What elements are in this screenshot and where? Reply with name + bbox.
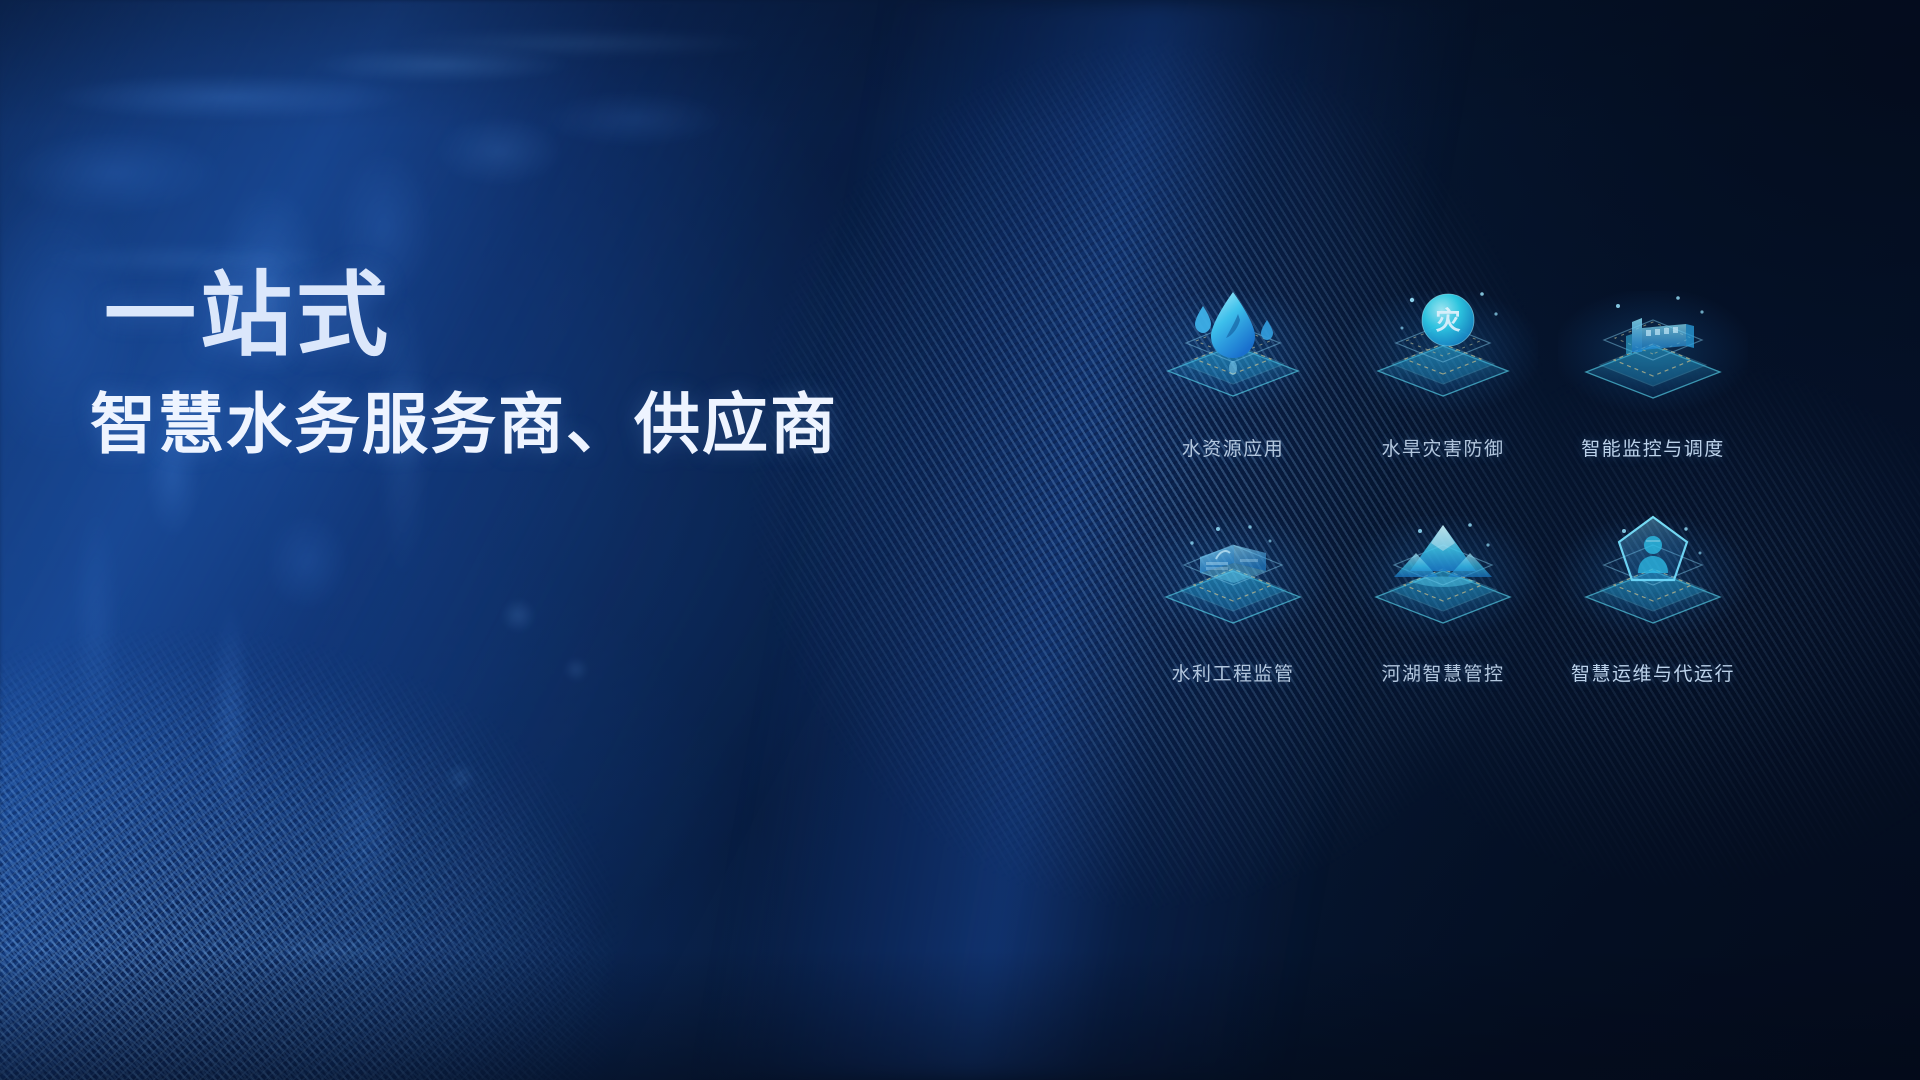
capability-label: 水利工程监管 — [1171, 659, 1294, 686]
dam-monitoring-icon — [1560, 276, 1746, 426]
disaster-sphere-icon: 灾 — [1350, 276, 1536, 426]
river-terrain-icon — [1350, 501, 1536, 651]
capability-label: 智慧运维与代运行 — [1571, 659, 1735, 686]
capability-item-water-resource[interactable]: 水资源应用 — [1128, 276, 1338, 501]
water-works-icon — [1140, 501, 1326, 651]
slide-canvas: 一站式 智慧水务服务商、供应商 — [0, 0, 1920, 1080]
capability-item-smart-operations[interactable]: 智慧运维与代运行 — [1548, 501, 1758, 726]
capability-item-water-works[interactable]: 水利工程监管 — [1128, 501, 1338, 726]
capability-item-disaster-defense[interactable]: 灾 水旱灾害防御 — [1338, 276, 1548, 501]
capability-item-smart-monitoring[interactable]: 智能监控与调度 — [1548, 276, 1758, 501]
capability-label: 水资源应用 — [1182, 434, 1285, 461]
capability-label: 智能监控与调度 — [1581, 434, 1725, 461]
capability-label: 河湖智慧管控 — [1381, 659, 1504, 686]
hero-text-block: 一站式 智慧水务服务商、供应商 — [104, 268, 838, 460]
capability-grid: 水资源应用 — [1128, 276, 1768, 726]
shield-operations-icon — [1560, 501, 1746, 651]
capability-label: 水旱灾害防御 — [1381, 434, 1504, 461]
capability-item-river-lake[interactable]: 河湖智慧管控 — [1338, 501, 1548, 726]
water-drop-icon — [1140, 276, 1326, 426]
disaster-badge-character: 灾 — [1435, 306, 1460, 335]
page-title: 一站式 — [104, 268, 838, 366]
page-subtitle: 智慧水务服务商、供应商 — [90, 388, 838, 461]
